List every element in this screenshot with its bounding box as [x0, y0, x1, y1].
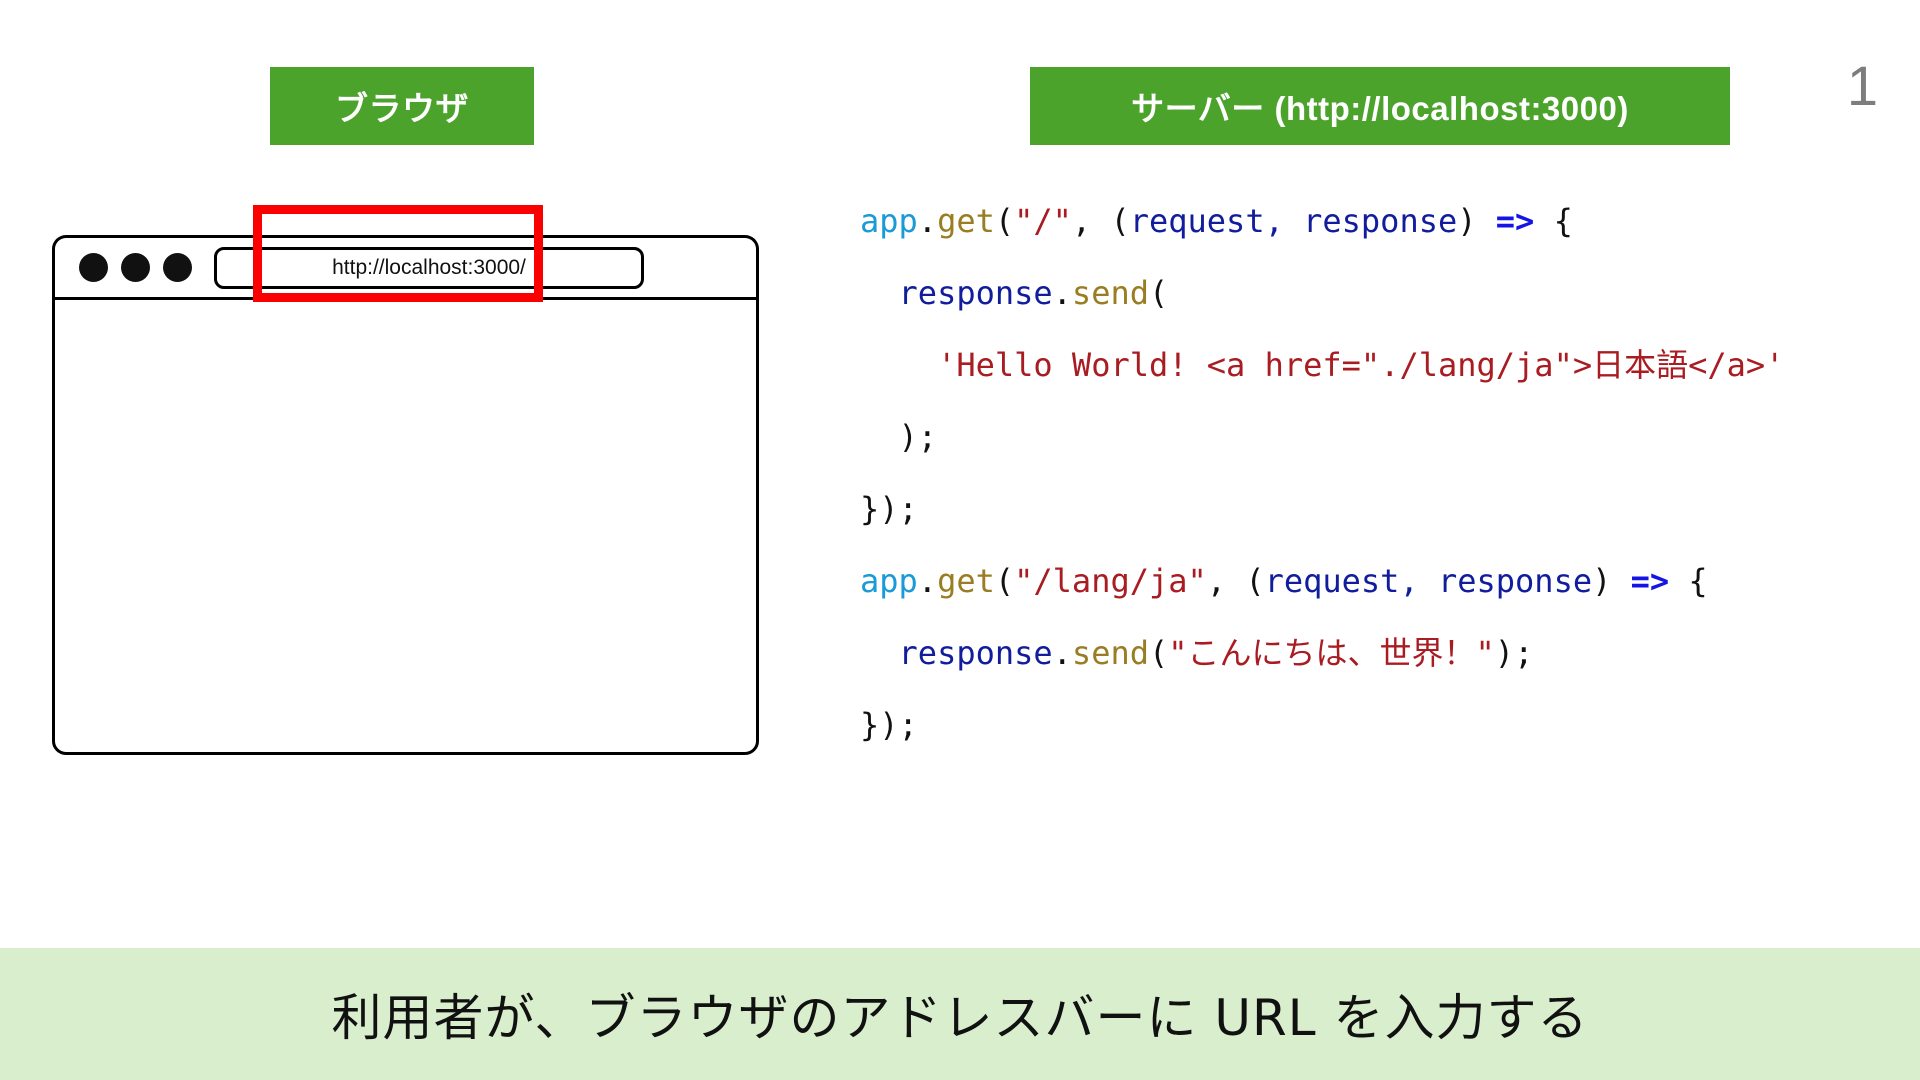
code-token-str: "こんにちは、世界！" [1168, 634, 1495, 672]
code-token-arrow: => [1631, 562, 1670, 600]
code-token-punct: ); [1495, 634, 1534, 672]
window-close-dot-icon[interactable] [79, 253, 108, 282]
code-token-punct: ) [1457, 202, 1496, 240]
code-token-punct: ( [1149, 634, 1168, 672]
window-maximize-dot-icon[interactable] [163, 253, 192, 282]
code-token-punct: ( [995, 562, 1014, 600]
code-token-param: response [899, 274, 1053, 312]
code-token-punct: , [1207, 562, 1246, 600]
code-token-param: response [899, 634, 1053, 672]
caption-bar: 利用者が、ブラウザのアドレスバーに URL を入力する [0, 948, 1920, 1080]
code-token-punct: , [1072, 202, 1111, 240]
code-line: response.send( [860, 257, 1784, 329]
window-minimize-dot-icon[interactable] [121, 253, 150, 282]
code-token-param: request, response [1130, 202, 1458, 240]
code-token-punct: }); [860, 490, 918, 528]
code-token-punct: . [1053, 274, 1072, 312]
code-token-fn: get [937, 562, 995, 600]
code-token-obj: app [860, 562, 918, 600]
code-line: response.send("こんにちは、世界！"); [860, 617, 1784, 689]
code-token-punct: ); [899, 418, 938, 456]
code-line: }); [860, 473, 1784, 545]
browser-column-header: ブラウザ [270, 67, 534, 145]
code-token-punct: { [1534, 202, 1573, 240]
code-line: app.get("/lang/ja", (request, response) … [860, 545, 1784, 617]
browser-viewport [52, 297, 759, 755]
address-bar-highlight-box [253, 205, 543, 302]
code-token-arrow: => [1496, 202, 1535, 240]
code-token-punct: ( [995, 202, 1014, 240]
code-line: app.get("/", (request, response) => { [860, 185, 1784, 257]
page-number: 1 [1847, 58, 1878, 114]
code-token-punct: . [918, 562, 937, 600]
code-token-fn: send [1072, 274, 1149, 312]
server-column-header: サーバー (http://localhost:3000) [1030, 67, 1730, 145]
code-token-param: request, response [1265, 562, 1593, 600]
code-token-obj: app [860, 202, 918, 240]
code-token-punct: ( [1110, 202, 1129, 240]
browser-mockup: http://localhost:3000/ [52, 235, 759, 755]
code-token-fn: get [937, 202, 995, 240]
code-token-str: "/lang/ja" [1014, 562, 1207, 600]
code-line: }); [860, 689, 1784, 761]
code-token-str: "/" [1014, 202, 1072, 240]
code-token-punct: ( [1245, 562, 1264, 600]
caption-text: 利用者が、ブラウザのアドレスバーに URL を入力する [332, 978, 1589, 1050]
traffic-light-dots [79, 253, 192, 282]
code-token-punct: { [1669, 562, 1708, 600]
code-line: ); [860, 401, 1784, 473]
code-token-punct: ) [1592, 562, 1631, 600]
code-token-punct: }); [860, 706, 918, 744]
code-token-punct: . [918, 202, 937, 240]
code-token-fn: send [1072, 634, 1149, 672]
code-token-punct: . [1053, 634, 1072, 672]
server-code-block: app.get("/", (request, response) => { re… [860, 185, 1784, 761]
code-token-str: 'Hello World! <a href="./lang/ja">日本語</a… [937, 346, 1784, 384]
code-token-punct: ( [1149, 274, 1168, 312]
code-line: 'Hello World! <a href="./lang/ja">日本語</a… [860, 329, 1784, 401]
